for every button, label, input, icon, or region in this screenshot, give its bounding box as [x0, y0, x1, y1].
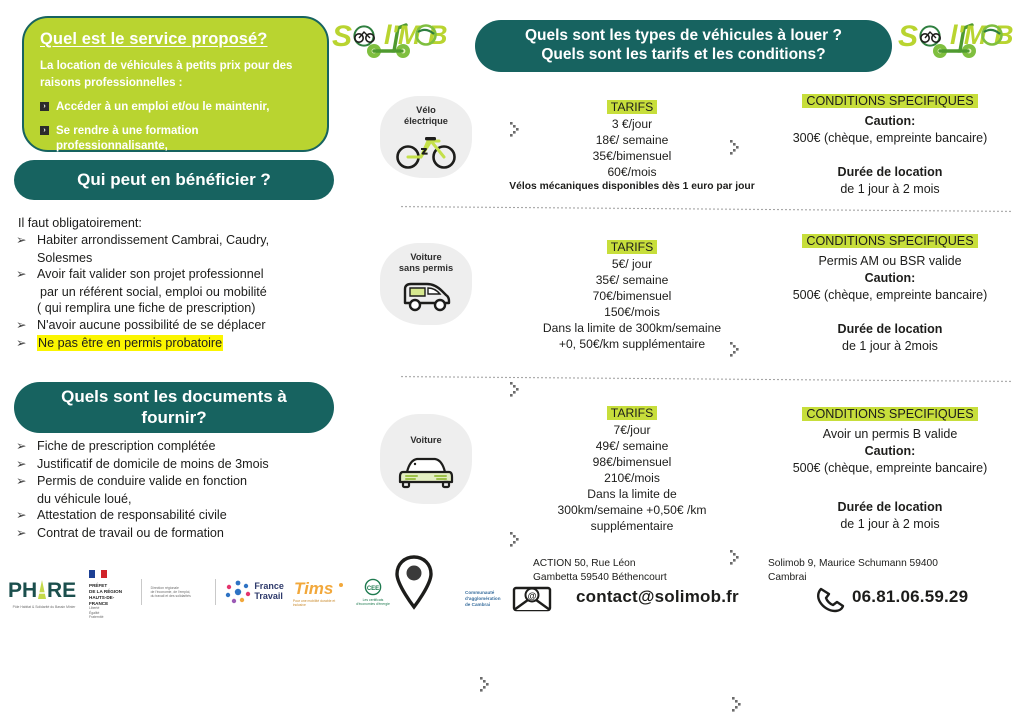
vehicle-blob-voiture-sans-permis: Voituresans permis [380, 243, 472, 325]
documents-list: ➢ Fiche de prescription complétée ➢ Just… [16, 438, 356, 543]
service-card-intro: La location de véhicules à petits prix p… [40, 58, 311, 91]
vehicle-label: Voituresans permis [399, 252, 453, 274]
price-line: 35€/ semaine [498, 272, 766, 288]
document-item: ➢ Attestation de responsabilité civile [16, 507, 356, 524]
duration-label: Durée de location [760, 164, 1020, 181]
arrow-bullet-icon: ➢ [16, 266, 29, 282]
email-link[interactable]: contact@solimob.fr [576, 587, 739, 607]
service-bullet-label: Accéder à un emploi et/ou le maintenir, [56, 100, 269, 115]
duration-label: Durée de location [760, 499, 1020, 516]
document-item-label: Contrat de travail ou de formation [37, 525, 224, 542]
conditions-tag: CONDITIONS SPECIFIQUES [802, 407, 977, 421]
price-line: 150€/mois [498, 304, 766, 320]
address-primary: ACTION 50, Rue Léon Gambetta 59540 Béthe… [533, 557, 723, 585]
documents-heading-pill: Quels sont les documents à fournir? [14, 382, 334, 433]
address-line-1: ACTION 50, Rue Léon [533, 557, 723, 571]
conditions-block-vsp: CONDITIONS SPECIFIQUES Permis AM ou BSR … [760, 232, 1020, 355]
prefet-hauts-de-france-logo: PRÉFET DE LA RÉGION HAUTS-DE-FRANCE Libe… [89, 565, 132, 619]
arrow-bullet-icon: ➢ [16, 335, 29, 351]
caution-label: Caution: [760, 113, 1020, 130]
vehicle-label: Véloélectrique [404, 105, 448, 127]
address-line-2: Cambrai [768, 571, 998, 585]
address-line-1: Solimob 9, Maurice Schumann 59400 [768, 557, 998, 571]
solimob-logo-icon: S l'M B [332, 10, 454, 60]
phone-link[interactable]: 06.81.06.59.29 [852, 587, 968, 607]
beneficiary-item-subline: Solesmes [37, 250, 356, 267]
vehicle-blob-velo-electrique: Véloélectrique [380, 96, 472, 178]
service-bullet-1: › Se rendre à une formation professionna… [40, 124, 311, 154]
chevron-dots-icon-7 [478, 675, 494, 695]
conditions-block-voiture: CONDITIONS SPECIFIQUES Avoir un permis B… [760, 405, 1020, 533]
right-heading-line2: Quels sont les tarifs et les conditions? [541, 46, 825, 65]
tarifs-block-velo: TARIFS 3 €/jour 18€/ semaine 35€/bimensu… [498, 98, 766, 194]
duration-value: de 1 jour à 2 mois [760, 516, 1020, 533]
tims-wordmark-icon: Tims [294, 577, 346, 599]
address-line-2: Gambetta 59540 Béthencourt [533, 571, 723, 585]
chevron-square-icon: › [40, 126, 49, 135]
price-line: 210€/mois [498, 470, 766, 486]
tarifs-tag: TARIFS [607, 240, 657, 254]
right-heading-line1: Quels sont les types de véhicules à loue… [525, 27, 842, 46]
price-line: 7€/jour [498, 422, 766, 438]
infographic-canvas: S l'M B S l' [0, 0, 1024, 620]
service-card-heading: Quel est le service proposé? [40, 30, 311, 49]
solimob-logo-top-left: S l'M B [332, 10, 454, 60]
service-bullet-0: › Accéder à un emploi et/ou le maintenir… [40, 100, 311, 115]
beneficiary-item: ➢ Avoir fait valider son projet professi… [16, 266, 356, 283]
electric-bike-icon [395, 130, 457, 170]
beneficiary-heading-pill: Qui peut en bénéficier ? [14, 160, 334, 200]
chevron-square-icon: › [40, 102, 49, 111]
phone-icon [814, 585, 848, 615]
chevron-dots-icon-8 [730, 695, 746, 715]
footer-divider [215, 579, 216, 605]
arrow-bullet-icon: ➢ [16, 507, 29, 523]
beneficiary-item-label: Avoir fait valider son projet profession… [37, 266, 264, 283]
footer-logo-strip: PH RE Pôle Habitat & Solidarité du Bassi… [8, 568, 390, 616]
beneficiary-item: ➢ Ne pas être en permis probatoire [16, 335, 356, 352]
price-extra: Dans la limite de 300km/semaine [498, 320, 766, 336]
tims-subtitle: Pour une mobilité durable et inclusive [293, 599, 347, 608]
svg-text:CEE: CEE [367, 586, 379, 592]
arrow-bullet-icon: ➢ [16, 473, 29, 489]
agglo-crescent-icon [438, 584, 462, 614]
france-travail-dots-icon [225, 579, 251, 605]
document-item: ➢ Fiche de prescription complétée [16, 438, 356, 455]
chevron-dots-icon-3 [508, 380, 524, 400]
row-separator-2 [400, 376, 1012, 383]
vehicle-blob-voiture: Voiture [380, 414, 472, 504]
caution-label: Caution: [760, 270, 1020, 287]
price-line: 70€/bimensuel [498, 288, 766, 304]
duration-value: de 1 jour à 2 mois [760, 181, 1020, 198]
location-pin-icon [392, 552, 436, 612]
microcar-icon [397, 277, 455, 313]
condition-pre: Avoir un permis B valide [760, 426, 1020, 443]
duration-value: de 1 jour à 2mois [760, 338, 1020, 355]
document-item-label: Fiche de prescription complétée [37, 438, 216, 455]
beneficiary-item-label: Habiter arrondissement Cambrai, Caudry, [37, 232, 269, 249]
france-travail-logo: FranceTravail [225, 579, 284, 605]
phare-subtitle: Pôle Habitat & Solidarité du Bassin Mini… [13, 605, 76, 609]
condition-pre: Permis AM ou BSR valide [760, 253, 1020, 270]
svg-text:S: S [332, 20, 352, 53]
beneficiary-item: ➢ N'avoir aucune possibilité de se dépla… [16, 317, 356, 334]
cee-logo: CEE Les certificats d'économies d'énergi… [356, 578, 390, 607]
tarifs-tag: TARIFS [607, 100, 657, 114]
envelope-icon: @ [512, 585, 552, 613]
caution-value: 500€ (chèque, empreinte bancaire) [760, 287, 1020, 304]
phare-logo: PH RE Pôle Habitat & Solidarité du Bassi… [8, 575, 80, 609]
agglo-cambrai-logo: Communauté d'agglomération de Cambrai [438, 582, 516, 616]
duration-label: Durée de location [760, 321, 1020, 338]
beneficiary-item-subline: ( qui remplira une fiche de prescription… [37, 300, 356, 317]
price-line: 5€/ jour [498, 256, 766, 272]
beneficiary-item-subline: par un référent social, emploi ou mobili… [40, 284, 356, 301]
french-flag-icon [89, 570, 107, 578]
price-line: 98€/bimensuel [498, 454, 766, 470]
beneficiary-item: ➢ Habiter arrondissement Cambrai, Caudry… [16, 232, 356, 249]
conditions-tag: CONDITIONS SPECIFIQUES [802, 94, 977, 108]
arrow-bullet-icon: ➢ [16, 525, 29, 541]
price-line: 35€/bimensuel [498, 148, 766, 164]
solimob-logo-top-right: S l'M B [898, 10, 1020, 60]
svg-text:S: S [898, 20, 918, 53]
tarifs-block-voiture: TARIFS 7€/jour 49€/ semaine 98€/bimensue… [498, 404, 766, 535]
price-line: 49€/ semaine [498, 438, 766, 454]
document-item-label: Permis de conduire valide en fonction [37, 473, 247, 490]
arrow-bullet-icon: ➢ [16, 232, 29, 248]
chevron-dots-icon-6 [728, 548, 744, 568]
beneficiary-intro: Il faut obligatoirement: [18, 216, 356, 230]
conditions-block-velo: CONDITIONS SPECIFIQUES Caution: 300€ (ch… [760, 92, 1020, 198]
beneficiary-list: Il faut obligatoirement: ➢ Habiter arron… [16, 216, 356, 352]
beneficiary-item-label-highlighted: Ne pas être en permis probatoire [37, 335, 223, 352]
document-item-label: Justificatif de domicile de moins de 3mo… [37, 456, 269, 473]
caution-value: 300€ (chèque, empreinte bancaire) [760, 130, 1020, 147]
price-extra: 300km/semaine +0,50€ /km [498, 502, 766, 518]
price-extra: Dans la limite de [498, 486, 766, 502]
service-bullet-label: Se rendre à une formation professionnali… [56, 124, 311, 154]
arrow-bullet-icon: ➢ [16, 438, 29, 454]
footer-divider [141, 579, 142, 605]
row-separator-1 [400, 206, 1012, 213]
caution-label: Caution: [760, 443, 1020, 460]
vehicle-label: Voiture [410, 435, 441, 446]
document-item: ➢ Permis de conduire valide en fonction [16, 473, 356, 490]
service-card: Quel est le service proposé? La location… [22, 16, 329, 152]
svg-text:B: B [994, 20, 1014, 50]
car-front-icon [397, 452, 455, 490]
caution-value: 500€ (chèque, empreinte bancaire) [760, 460, 1020, 477]
solimob-logo-icon: S l'M B [898, 10, 1020, 60]
chevron-dots-icon-4 [728, 340, 744, 360]
price-extra: +0, 50€/km supplémentaire [498, 336, 766, 352]
svg-text:@: @ [528, 591, 537, 601]
right-heading-pill: Quels sont les types de véhicules à loue… [475, 20, 892, 72]
phare-wordmark-icon: PH RE [8, 575, 80, 605]
document-item: ➢ Justificatif de domicile de moins de 3… [16, 456, 356, 473]
tarifs-block-vsp: TARIFS 5€/ jour 35€/ semaine 70€/bimensu… [498, 238, 766, 352]
svg-text:RE: RE [47, 579, 76, 602]
arrow-bullet-icon: ➢ [16, 317, 29, 333]
dreets-logo: Direction régionale de l'économie, de l'… [151, 586, 207, 599]
price-line: 60€/mois [498, 164, 766, 180]
price-note: Vélos mécaniques disponibles dès 1 euro … [498, 180, 766, 193]
document-item-subline: du véhicule loué, [37, 491, 356, 508]
conditions-tag: CONDITIONS SPECIFIQUES [802, 234, 977, 248]
price-line: 3 €/jour [498, 116, 766, 132]
price-extra: supplémentaire [498, 518, 766, 534]
document-item: ➢ Contrat de travail ou de formation [16, 525, 356, 542]
arrow-bullet-icon: ➢ [16, 456, 29, 472]
svg-text:B: B [428, 20, 448, 50]
chevron-dots-icon-2 [728, 138, 744, 158]
document-item-label: Attestation de responsabilité civile [37, 507, 227, 524]
beneficiary-item-label: N'avoir aucune possibilité de se déplace… [37, 317, 266, 334]
cee-badge-icon: CEE [362, 578, 384, 598]
tims-logo: Tims Pour une mobilité durable et inclus… [293, 577, 347, 608]
svg-text:PH: PH [8, 579, 37, 602]
address-secondary: Solimob 9, Maurice Schumann 59400 Cambra… [768, 557, 998, 585]
price-line: 18€/ semaine [498, 132, 766, 148]
svg-text:Tims: Tims [294, 579, 333, 598]
tarifs-tag: TARIFS [607, 406, 657, 420]
